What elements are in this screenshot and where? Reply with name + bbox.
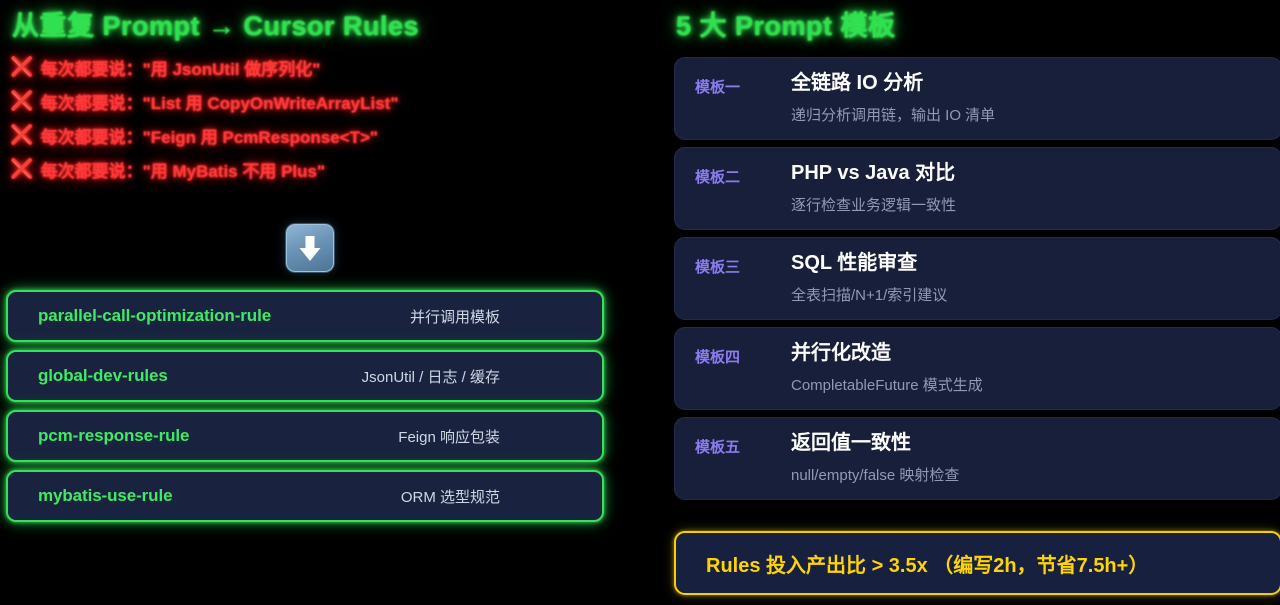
template-title: SQL 性能审查 [791, 252, 1263, 275]
cross-mark-icon: ❌ [10, 58, 34, 77]
template-badge: 模板三 [695, 252, 791, 277]
roi-text: Rules 投入产出比 > 3.5x （编写2h，节省7.5h+） [706, 549, 1148, 578]
template-body: SQL 性能审查 全表扫描/N+1/索引建议 [791, 252, 1263, 305]
template-subtitle: 全表扫描/N+1/索引建议 [791, 284, 1263, 305]
template-subtitle: null/empty/false 映射检查 [791, 464, 1263, 485]
cross-mark-icon: ❌ [10, 92, 34, 111]
rule-name: parallel-call-optimization-rule [38, 306, 271, 326]
template-card[interactable]: 模板五 返回值一致性 null/empty/false 映射检查 [674, 417, 1280, 500]
rule-description: Feign 响应包装 [398, 426, 578, 447]
template-subtitle: 递归分析调用链，输出 IO 清单 [791, 104, 1263, 125]
template-body: PHP vs Java 对比 逐行检查业务逻辑一致性 [791, 162, 1263, 215]
transition-arrow-container [0, 224, 620, 272]
rule-card[interactable]: parallel-call-optimization-rule 并行调用模板 [6, 290, 604, 342]
template-badge: 模板五 [695, 432, 791, 457]
template-card[interactable]: 模板四 并行化改造 CompletableFuture 模式生成 [674, 327, 1280, 410]
rule-description: 并行调用模板 [410, 306, 578, 327]
template-badge: 模板一 [695, 72, 791, 97]
rule-card[interactable]: mybatis-use-rule ORM 选型规范 [6, 470, 604, 522]
cross-mark-icon: ❌ [10, 160, 34, 179]
template-card[interactable]: 模板一 全链路 IO 分析 递归分析调用链，输出 IO 清单 [674, 57, 1280, 140]
template-title: 并行化改造 [791, 342, 1263, 365]
template-card[interactable]: 模板三 SQL 性能审查 全表扫描/N+1/索引建议 [674, 237, 1280, 320]
left-column: 从重复 Prompt → Cursor Rules ❌ 每次都要说："用 Jso… [0, 0, 640, 605]
right-column: 5 大 Prompt 模板 模板一 全链路 IO 分析 递归分析调用链，输出 I… [640, 0, 1280, 605]
template-subtitle: 逐行检查业务逻辑一致性 [791, 194, 1263, 215]
slide-canvas: 从重复 Prompt → Cursor Rules ❌ 每次都要说："用 Jso… [0, 0, 1280, 605]
template-body: 全链路 IO 分析 递归分析调用链，输出 IO 清单 [791, 72, 1263, 125]
prompt-template-list: 模板一 全链路 IO 分析 递归分析调用链，输出 IO 清单 模板二 PHP v… [674, 57, 1280, 507]
template-subtitle: CompletableFuture 模式生成 [791, 374, 1263, 395]
generated-rules-list: parallel-call-optimization-rule 并行调用模板 g… [6, 290, 604, 530]
template-body: 返回值一致性 null/empty/false 映射检查 [791, 432, 1263, 485]
pain-point-list: ❌ 每次都要说："用 JsonUtil 做序列化" ❌ 每次都要说："List … [10, 50, 610, 186]
rule-card[interactable]: pcm-response-rule Feign 响应包装 [6, 410, 604, 462]
pain-point-text: 每次都要说："用 MyBatis 不用 Plus" [41, 157, 325, 182]
rule-name: global-dev-rules [38, 366, 168, 386]
template-card[interactable]: 模板二 PHP vs Java 对比 逐行检查业务逻辑一致性 [674, 147, 1280, 230]
cross-mark-icon: ❌ [10, 126, 34, 145]
rule-description: ORM 选型规范 [401, 486, 578, 507]
roi-callout: Rules 投入产出比 > 3.5x （编写2h，节省7.5h+） [674, 531, 1280, 595]
template-title: 返回值一致性 [791, 432, 1263, 455]
rule-card[interactable]: global-dev-rules JsonUtil / 日志 / 缓存 [6, 350, 604, 402]
pain-point-text: 每次都要说："Feign 用 PcmResponse<T>" [41, 123, 378, 148]
template-badge: 模板二 [695, 162, 791, 187]
template-badge: 模板四 [695, 342, 791, 367]
pain-point-text: 每次都要说："用 JsonUtil 做序列化" [41, 55, 321, 80]
left-section-title: 从重复 Prompt → Cursor Rules [12, 4, 419, 43]
list-item: ❌ 每次都要说："List 用 CopyOnWriteArrayList" [10, 84, 610, 118]
list-item: ❌ 每次都要说："用 MyBatis 不用 Plus" [10, 152, 610, 186]
rule-name: mybatis-use-rule [38, 486, 172, 506]
list-item: ❌ 每次都要说："Feign 用 PcmResponse<T>" [10, 118, 610, 152]
rule-name: pcm-response-rule [38, 426, 189, 446]
right-section-title: 5 大 Prompt 模板 [676, 4, 896, 43]
template-title: 全链路 IO 分析 [791, 72, 1263, 95]
rule-description: JsonUtil / 日志 / 缓存 [362, 366, 578, 387]
pain-point-text: 每次都要说："List 用 CopyOnWriteArrayList" [41, 89, 399, 114]
down-arrow-icon [286, 224, 334, 272]
template-body: 并行化改造 CompletableFuture 模式生成 [791, 342, 1263, 395]
template-title: PHP vs Java 对比 [791, 162, 1263, 185]
list-item: ❌ 每次都要说："用 JsonUtil 做序列化" [10, 50, 610, 84]
